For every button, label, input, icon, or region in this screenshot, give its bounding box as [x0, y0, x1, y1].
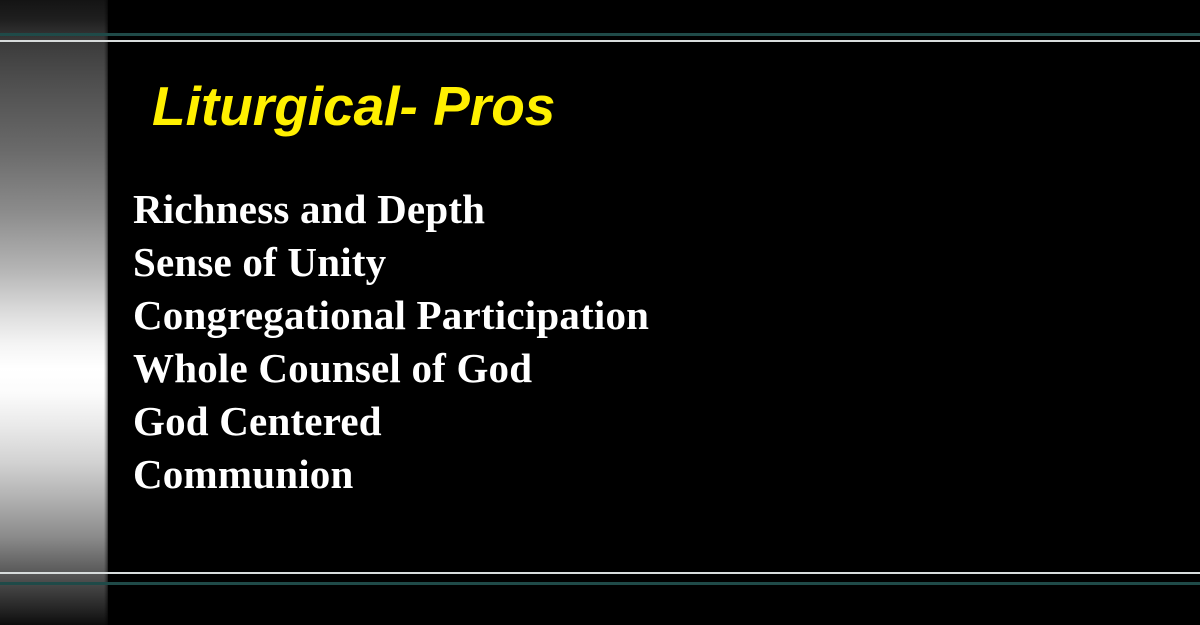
list-item: Richness and Depth — [133, 183, 1033, 236]
presentation-slide: Liturgical- Pros Richness and Depth Sens… — [0, 0, 1200, 625]
top-white-rule — [0, 40, 1200, 42]
list-item: Communion — [133, 448, 1033, 501]
list-item: Whole Counsel of God — [133, 342, 1033, 395]
bottom-white-rule — [0, 572, 1200, 574]
bottom-teal-rule — [0, 582, 1200, 585]
page-title: Liturgical- Pros — [152, 74, 555, 138]
left-gradient-bar-edge — [104, 0, 110, 625]
top-teal-rule — [0, 33, 1200, 36]
list-item: God Centered — [133, 395, 1033, 448]
list-item: Sense of Unity — [133, 236, 1033, 289]
left-gradient-bar — [0, 0, 108, 625]
bullet-list: Richness and Depth Sense of Unity Congre… — [133, 183, 1033, 501]
list-item: Congregational Participation — [133, 289, 1033, 342]
